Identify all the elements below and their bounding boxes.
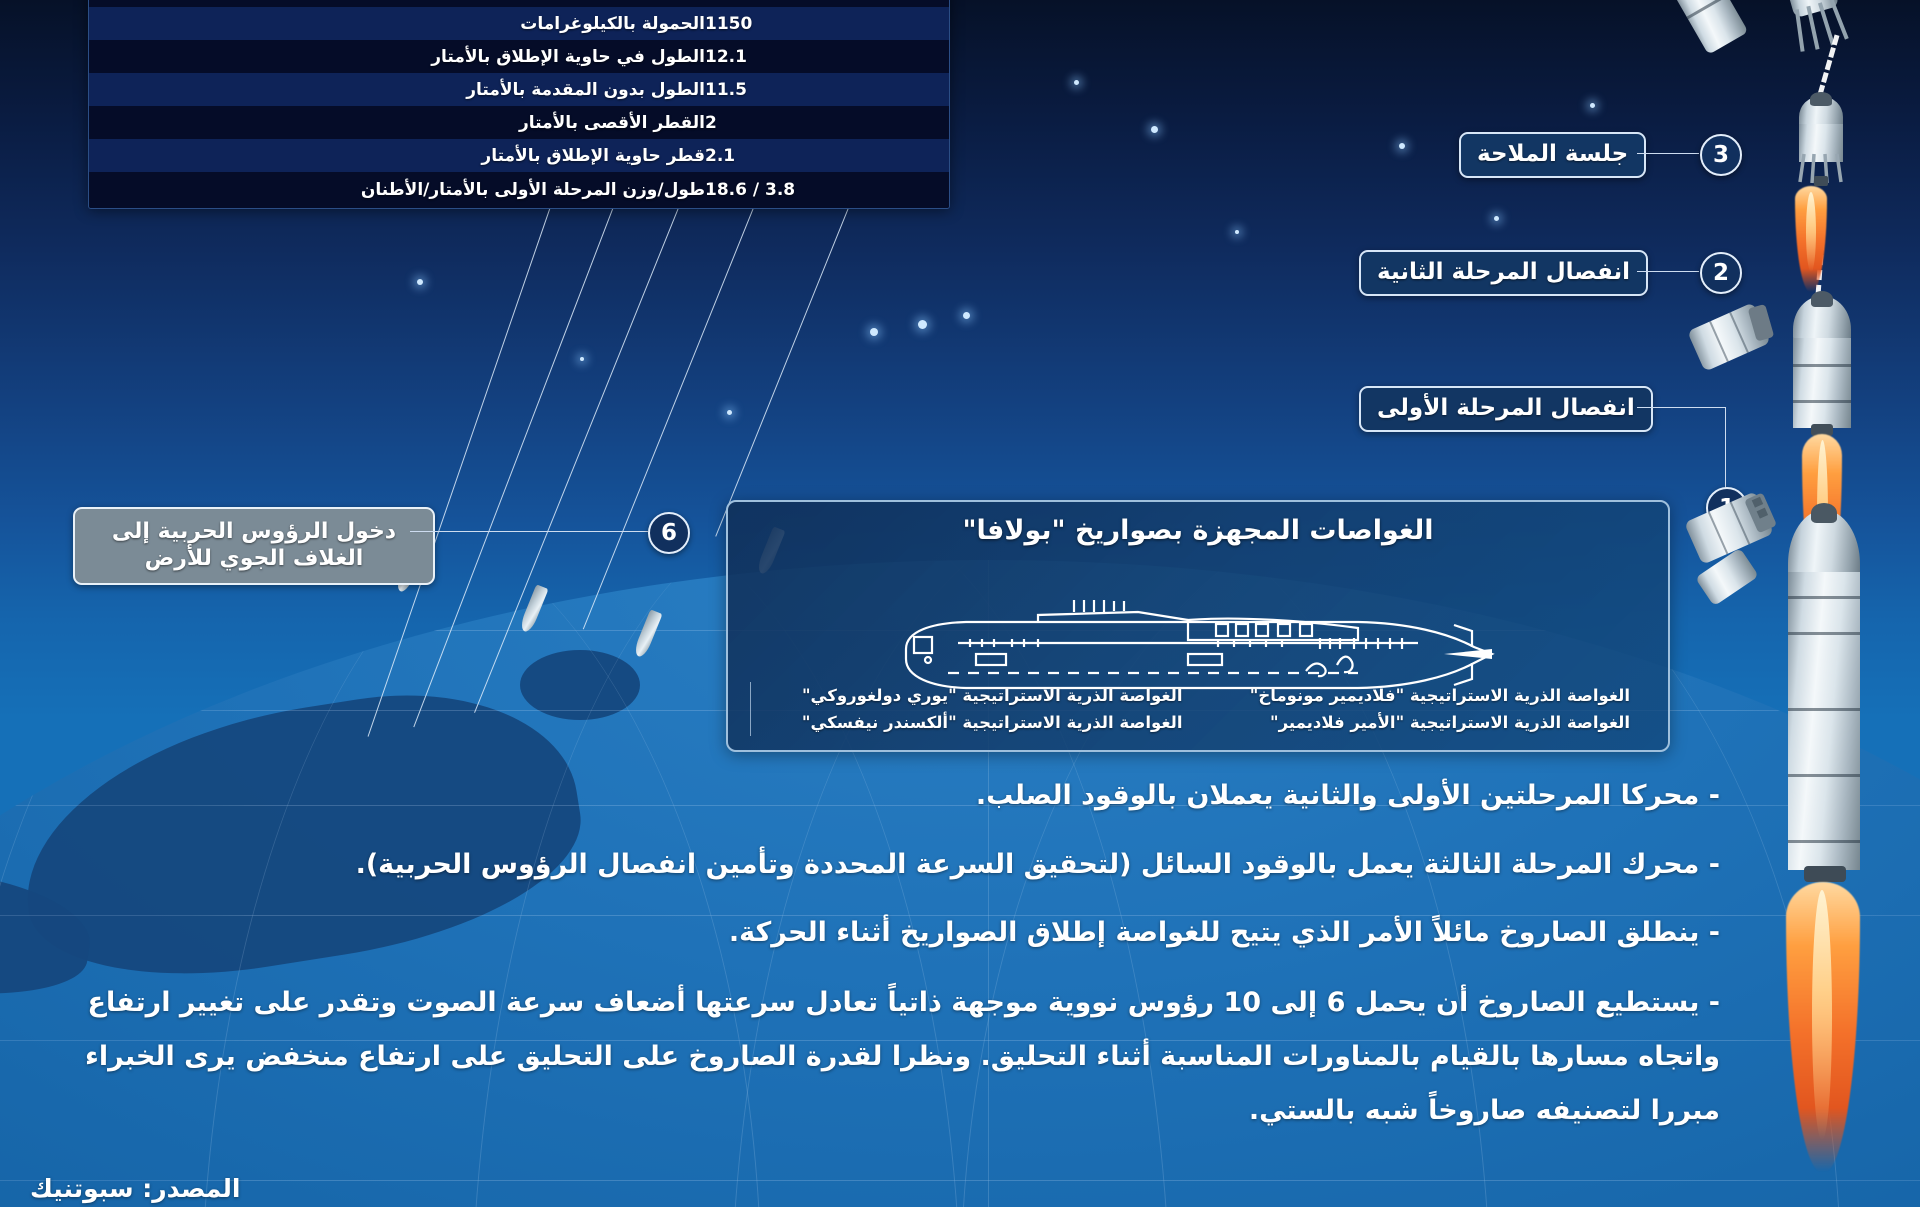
marker-6[interactable]: 6 [648,512,690,554]
star [1151,126,1158,133]
table-cell-label: القطر الأقصى بالأمتار [107,113,705,133]
star [918,320,927,329]
callout-second-stage-separation[interactable]: انفصال المرحلة الثانية [1359,250,1648,296]
submarine-name: الغواصة الذرية الاستراتيجية "فلاديمير مو… [1215,682,1631,709]
submarine-panel-title: الغواصات المجهزة بصواريخ "بولافا" [728,515,1668,546]
leader-line [410,531,648,532]
rocket-third-stage [1790,96,1852,180]
table-row: القطر الأقصى بالأمتار 2 [89,106,949,139]
marker-2[interactable]: 2 [1700,252,1742,294]
rocket-flame-main-core [1812,890,1832,1140]
submarine-names-left: الغواصة الذرية الاستراتيجية "فلاديمير مو… [1199,682,1647,736]
table-cell-value: 18.6 / 3.8 [705,180,935,200]
submarine-name: الغواصة الذرية الاستراتيجية "يوري دولغور… [767,682,1183,709]
table-row: الحمولة بالكيلوغرامات 1150 [89,7,949,40]
table-cell-value: 1150 [705,14,935,34]
star [870,328,878,336]
callout-warhead-reentry[interactable]: دخول الرؤوس الحربية إلى الغلاف الجوي للأ… [73,507,435,585]
table-cell-label: الحمولة بالكيلوغرامات [107,14,705,34]
table-row: الطول بدون المقدمة بالأمتار 11.5 [89,73,949,106]
table-row [89,0,949,7]
submarine-name: الغواصة الذرية الاستراتيجية "الأمير فلاد… [1215,709,1631,736]
star [727,410,732,415]
note-item: - محركا المرحلتين الأولى والثانية يعملان… [40,770,1720,823]
star [1590,103,1595,108]
rocket-flame-core [1806,192,1816,272]
table-row: الطول في حاوية الإطلاق بالأمتار 12.1 [89,40,949,73]
table-cell-label: طول/وزن المرحلة الأولى بالأمتار/الأطنان [107,180,705,200]
note-item: - يستطيع الصاروخ أن يحمل 6 إلى 10 رؤوس ن… [40,976,1720,1138]
table-cell-label: قطر حاوية الإطلاق بالأمتار [107,146,705,166]
table-cell-label: الطول في حاوية الإطلاق بالأمتار [107,47,705,67]
rocket-first-stage [1782,510,1868,888]
note-item: - محرك المرحلة الثالثة يعمل بالوقود السا… [40,839,1720,892]
leader-line [1637,407,1725,408]
table-cell-value: 12.1 [705,47,935,67]
star [1399,143,1405,149]
table-cell-value: 2.1 [705,146,935,166]
table-row: طول/وزن المرحلة الأولى بالأمتار/الأطنان … [89,172,949,208]
submarine-name: الغواصة الذرية الاستراتيجية "ألكسندر نيف… [767,709,1183,736]
leader-line [1637,271,1699,272]
table-row: قطر حاوية الإطلاق بالأمتار 2.1 [89,139,949,172]
marker-3[interactable]: 3 [1700,134,1742,176]
notes-list: - محركا المرحلتين الأولى والثانية يعملان… [40,770,1720,1154]
callout-navigation-session[interactable]: جلسة الملاحة [1459,132,1646,178]
rocket-second-stage [1787,296,1857,432]
star [1494,216,1499,221]
submarine-name-list: الغواصة الذرية الاستراتيجية "يوري دولغور… [750,682,1646,736]
leader-line [1637,153,1699,154]
infographic-canvas: الحمولة بالكيلوغرامات 1150 الطول في حاوي… [0,0,1920,1207]
star [417,279,423,285]
table-cell-value: 2 [705,113,935,133]
table-cell-value: 11.5 [705,80,935,100]
table-cell-label: الطول بدون المقدمة بالأمتار [107,80,705,100]
star [963,312,970,319]
star [1235,230,1239,234]
source-label: المصدر: سبوتنيك [30,1174,240,1203]
specifications-table: الحمولة بالكيلوغرامات 1150 الطول في حاوي… [88,0,950,209]
submarine-names-right: الغواصة الذرية الاستراتيجية "يوري دولغور… [750,682,1199,736]
callout-first-stage-separation[interactable]: انفصال المرحلة الأولى [1359,386,1653,432]
star [1074,80,1079,85]
note-item: - ينطلق الصاروخ مائلاً الأمر الذي يتيح ل… [40,907,1720,960]
submarine-panel: الغواصات المجهزة بصواريخ "بولافا" [726,500,1670,752]
star [580,357,584,361]
